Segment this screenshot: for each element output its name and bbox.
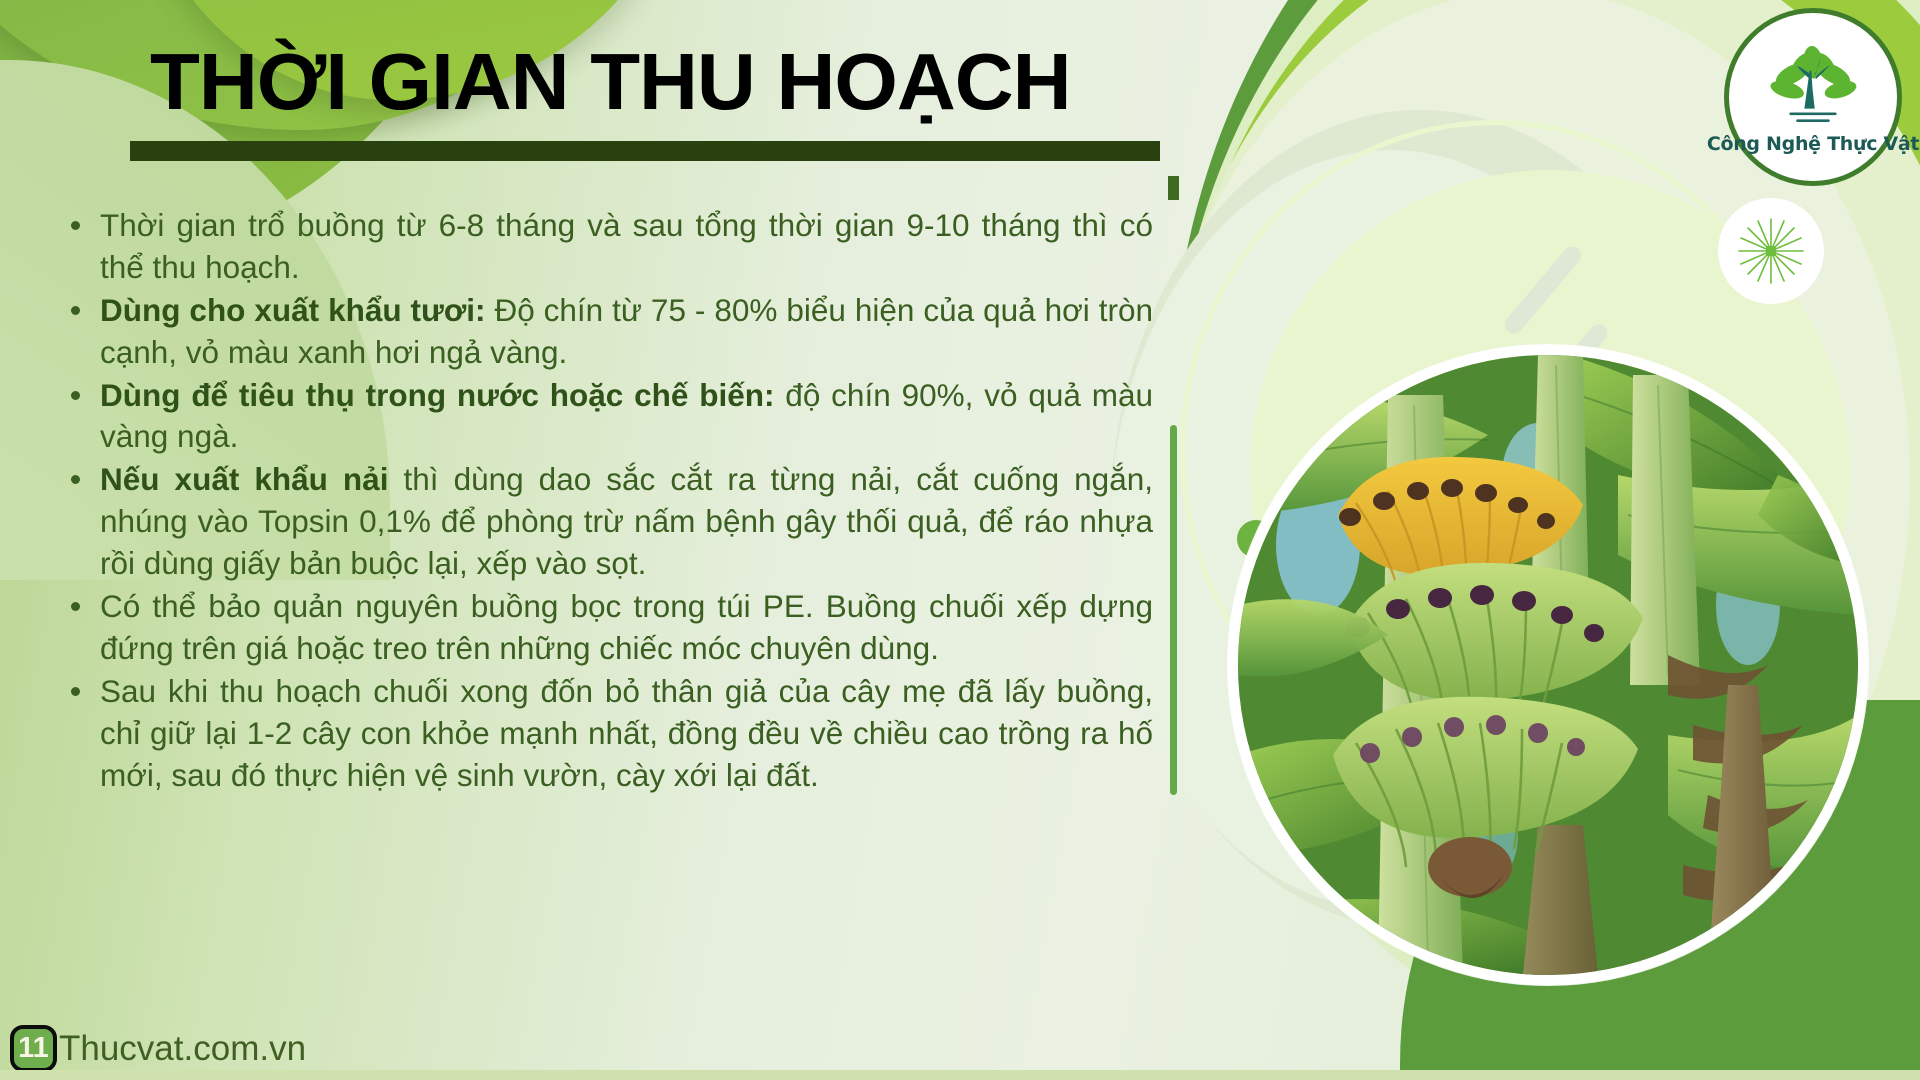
bullet-lead: Dùng cho xuất khẩu tươi: xyxy=(100,292,486,328)
bullet-text: Thời gian trổ buồng từ 6-8 tháng và sau … xyxy=(100,207,1153,285)
list-item: Dùng để tiêu thụ trong nước hoặc chế biế… xyxy=(58,375,1153,459)
brand-logo: Công Nghệ Thực Vật xyxy=(1724,8,1902,186)
banana-photo xyxy=(1238,355,1858,975)
bullet-lead: Dùng để tiêu thụ trong nước hoặc chế biế… xyxy=(100,377,774,413)
list-item: Nếu xuất khẩu nải thì dùng dao sắc cắt r… xyxy=(58,459,1153,585)
bullet-lead: Nếu xuất khẩu nải xyxy=(100,461,388,497)
bullet-text: Sau khi thu hoạch chuối xong đốn bỏ thân… xyxy=(100,673,1153,793)
list-item: Dùng cho xuất khẩu tươi: Độ chín từ 75 -… xyxy=(58,290,1153,374)
footer: 11 Thucvat.com.vn xyxy=(10,1025,306,1072)
page-number-badge: 11 xyxy=(10,1025,57,1072)
starburst-icon xyxy=(1734,214,1808,288)
bullet-text: Có thể bảo quản nguyên buồng bọc trong t… xyxy=(100,588,1153,666)
list-item: Thời gian trổ buồng từ 6-8 tháng và sau … xyxy=(58,205,1153,289)
footer-site-label: Thucvat.com.vn xyxy=(59,1029,306,1069)
decor-bottom-band xyxy=(0,1070,1920,1080)
title-underline-bar xyxy=(130,141,1160,161)
decor-vertical-divider xyxy=(1170,425,1177,795)
content-bullet-list: Thời gian trổ buồng từ 6-8 tháng và sau … xyxy=(58,205,1153,797)
list-item: Sau khi thu hoạch chuối xong đốn bỏ thân… xyxy=(58,671,1153,797)
page-title: THỜI GIAN THU HOẠCH xyxy=(150,42,1071,122)
logo-text: Công Nghệ Thực Vật xyxy=(1707,133,1919,155)
slide-root: Công Nghệ Thực Vật THỜI GIAN THU HOẠCH T… xyxy=(0,0,1920,1080)
list-item: Có thể bảo quản nguyên buồng bọc trong t… xyxy=(58,586,1153,670)
starburst-badge xyxy=(1718,198,1824,304)
tree-icon xyxy=(1761,45,1865,131)
decor-tick-mark xyxy=(1168,176,1179,200)
banana-photo-frame xyxy=(1228,345,1868,985)
